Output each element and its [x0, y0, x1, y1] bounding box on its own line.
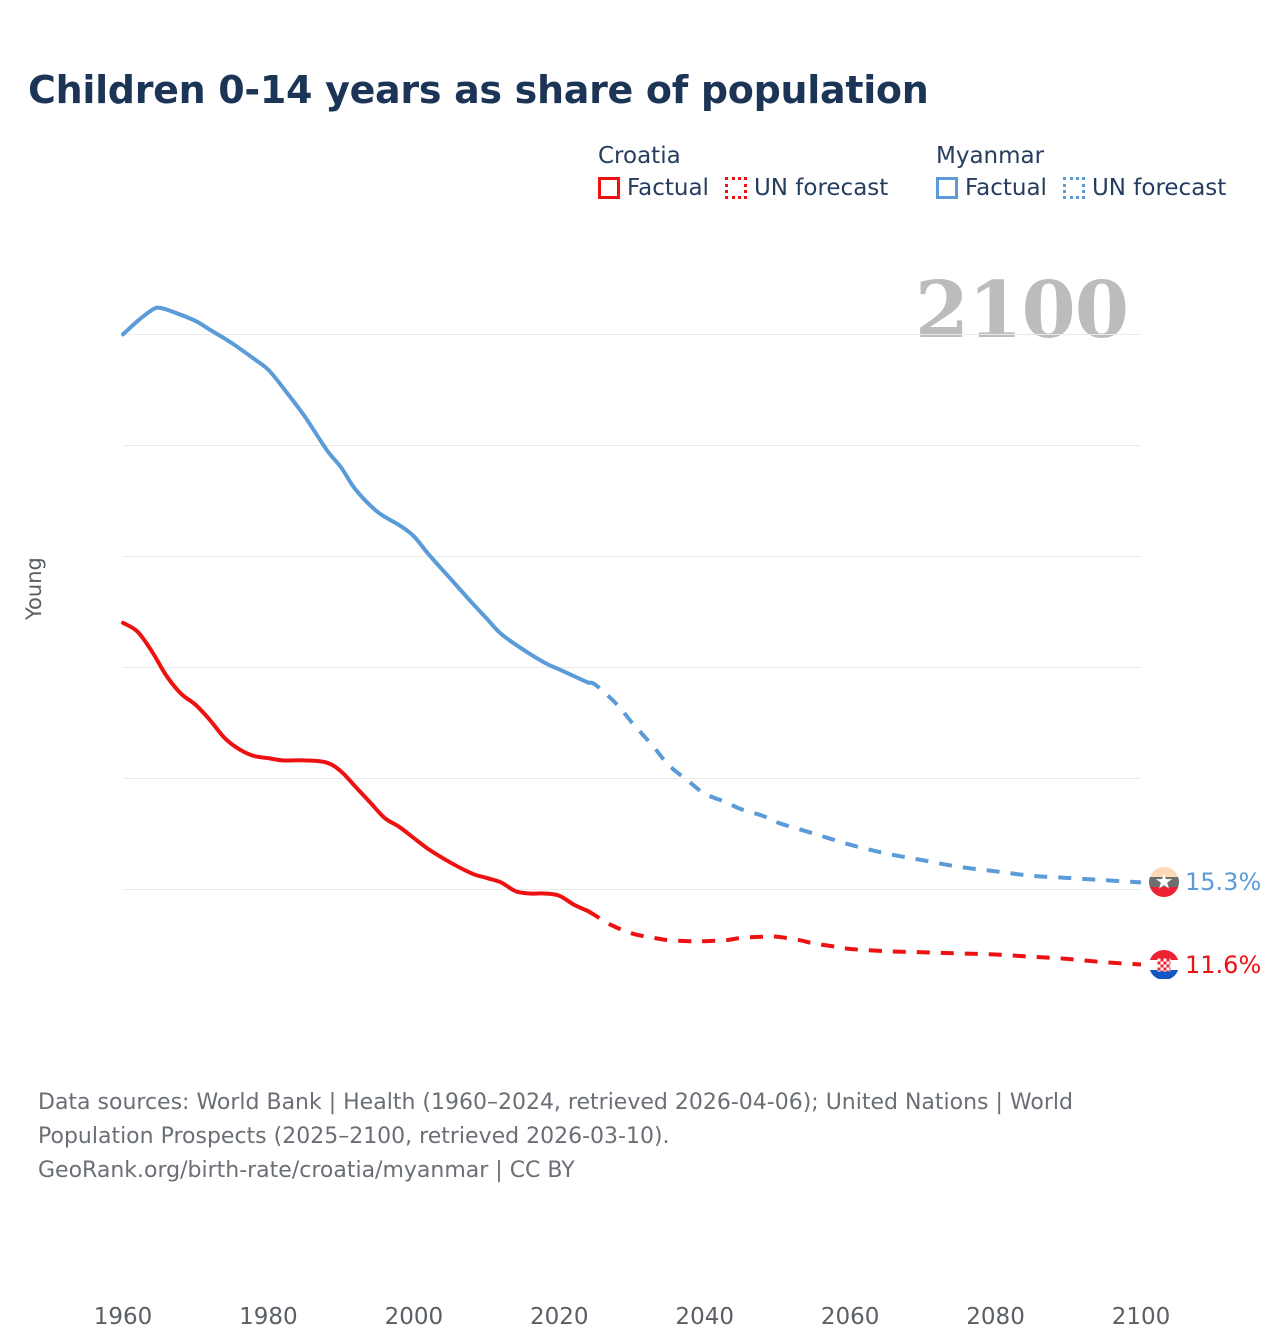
dotted-square-outline-icon — [1063, 177, 1085, 199]
x-tick-label: 1980 — [239, 1304, 298, 1330]
line-forecast-myanmar — [588, 683, 1141, 883]
page-title: Children 0-14 years as share of populati… — [28, 68, 928, 112]
dotted-square-outline-icon — [725, 177, 747, 199]
end-value-croatia: 11.6% — [1185, 951, 1261, 979]
y-axis-title: Young — [22, 557, 46, 620]
x-tick-label: 1960 — [94, 1304, 153, 1330]
line-factual-croatia — [123, 623, 588, 911]
legend-label-croatia-forecast: UN forecast — [754, 175, 888, 201]
footer-sources: Data sources: World Bank | Health (1960–… — [38, 1086, 1238, 1188]
legend-group-croatia: Croatia Factual UN forecast — [598, 143, 888, 201]
chart-legend: Croatia Factual UN forecast Myanmar Fact… — [598, 143, 1258, 223]
chart-container: Children 0-14 years as share of populati… — [0, 0, 1280, 1280]
series-lines — [123, 290, 1141, 1000]
croatia-flag-icon — [1149, 950, 1179, 980]
footer-line-1: Data sources: World Bank | Health (1960–… — [38, 1086, 1238, 1120]
x-tick-label: 2100 — [1112, 1304, 1171, 1330]
x-tick-label: 2040 — [675, 1304, 734, 1330]
myanmar-flag-icon: ★ — [1149, 867, 1179, 897]
plot-area: 40%35%30%25%20%15% 196019802000202020402… — [123, 290, 1141, 1000]
legend-country-label-myanmar: Myanmar — [936, 143, 1226, 169]
legend-country-label-croatia: Croatia — [598, 143, 888, 169]
solid-square-outline-icon — [936, 177, 958, 199]
legend-item-croatia-forecast[interactable]: UN forecast — [725, 175, 888, 201]
end-marker-myanmar: ★15.3% — [1149, 867, 1261, 897]
footer-line-3[interactable]: GeoRank.org/birth-rate/croatia/myanmar |… — [38, 1154, 1238, 1188]
footer-line-2: Population Prospects (2025–2100, retriev… — [38, 1120, 1238, 1154]
end-value-myanmar: 15.3% — [1185, 868, 1261, 896]
legend-label-croatia-factual: Factual — [627, 175, 709, 201]
x-tick-label: 2060 — [821, 1304, 880, 1330]
x-tick-label: 2020 — [530, 1304, 589, 1330]
legend-label-myanmar-forecast: UN forecast — [1092, 175, 1226, 201]
legend-item-myanmar-factual[interactable]: Factual — [936, 175, 1047, 201]
legend-item-croatia-factual[interactable]: Factual — [598, 175, 709, 201]
legend-item-myanmar-forecast[interactable]: UN forecast — [1063, 175, 1226, 201]
line-factual-myanmar — [123, 308, 588, 683]
legend-group-myanmar: Myanmar Factual UN forecast — [936, 143, 1226, 201]
line-forecast-croatia — [588, 911, 1141, 964]
legend-label-myanmar-factual: Factual — [965, 175, 1047, 201]
end-marker-croatia: 11.6% — [1149, 950, 1261, 980]
x-tick-label: 2080 — [966, 1304, 1025, 1330]
x-tick-label: 2000 — [385, 1304, 444, 1330]
solid-square-outline-icon — [598, 177, 620, 199]
